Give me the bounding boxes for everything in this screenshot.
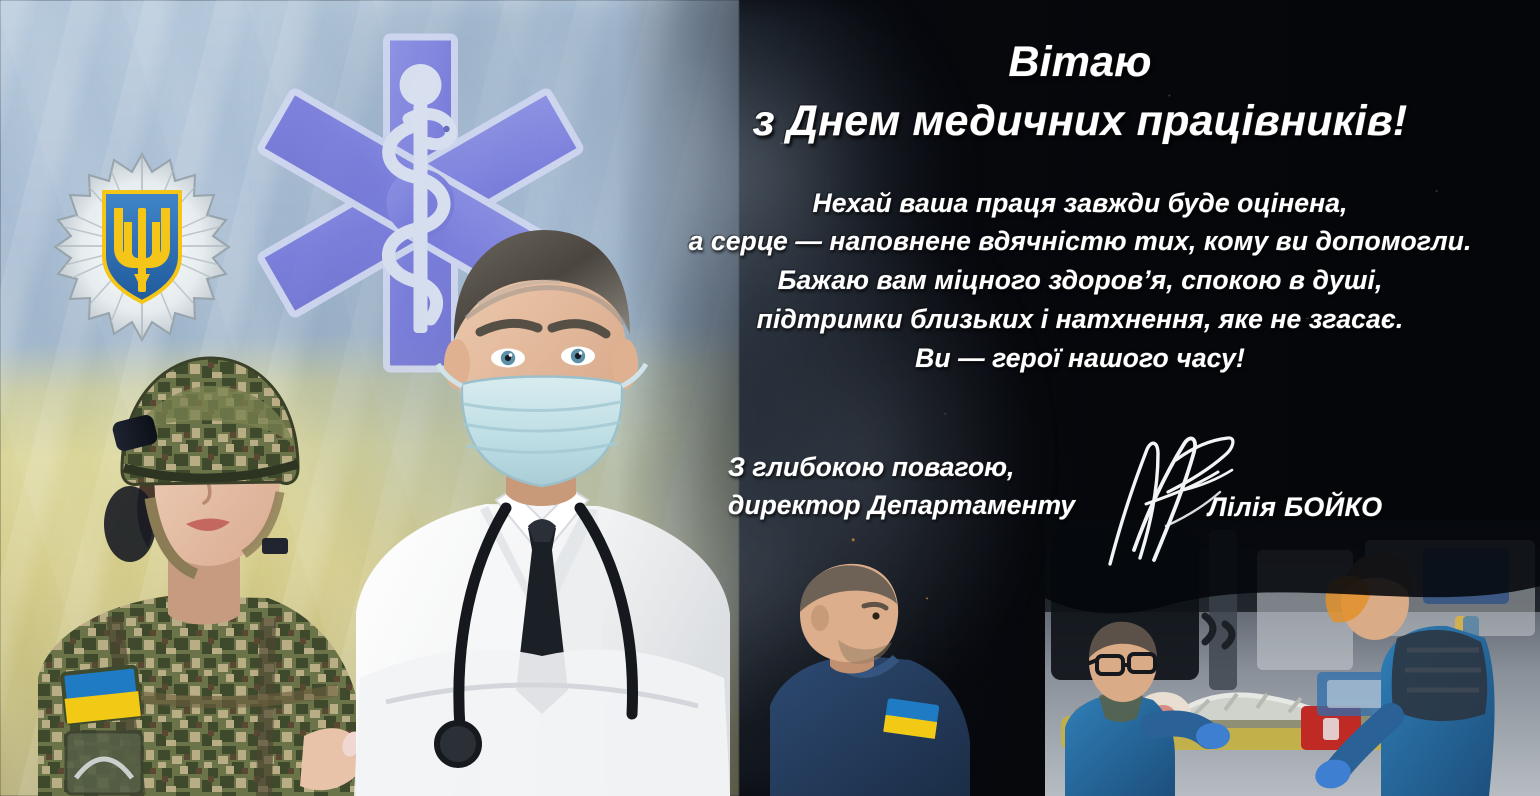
headline-line-1: Вітаю [640,34,1520,91]
signature-text: З глибокою повагою, директор Департамент… [728,448,1128,524]
medic-figure [760,556,1000,796]
body-line-4: підтримки близьких і натхнення, яке не з… [640,300,1520,339]
stethoscope-chestpiece [437,723,479,765]
body-line-1: Нехай ваша праця завжди буде оцінена, [640,184,1520,223]
ukrainian-flag-patch-icon [62,666,141,723]
body-line-3: Бажаю вам міцного здоров’я, спокою в душ… [640,261,1520,300]
greeting-text-block: Вітаю з Днем медичних працівників! Нехай… [640,34,1520,378]
signatory-name: Лілія БОЙКО [1208,492,1383,523]
unit-patch-icon [66,732,142,794]
body-line-5: Ви — герої нашого часу! [640,339,1520,378]
body-line-2: а серце — наповнене вдячністю тих, кому … [640,222,1520,261]
signature-closing: З глибокою повагою, [728,448,1128,486]
greeting-card: Вітаю з Днем медичних працівників! Нехай… [0,0,1540,796]
medic-flag-patch-icon [883,698,939,739]
signature-role: директор Департаменту [728,486,1128,524]
surgical-mask-icon [438,364,646,486]
snake-eye [443,126,449,132]
headline-line-2: з Днем медичних працівників! [640,93,1520,150]
signature-block: З глибокою повагою, директор Департамент… [640,448,1520,558]
